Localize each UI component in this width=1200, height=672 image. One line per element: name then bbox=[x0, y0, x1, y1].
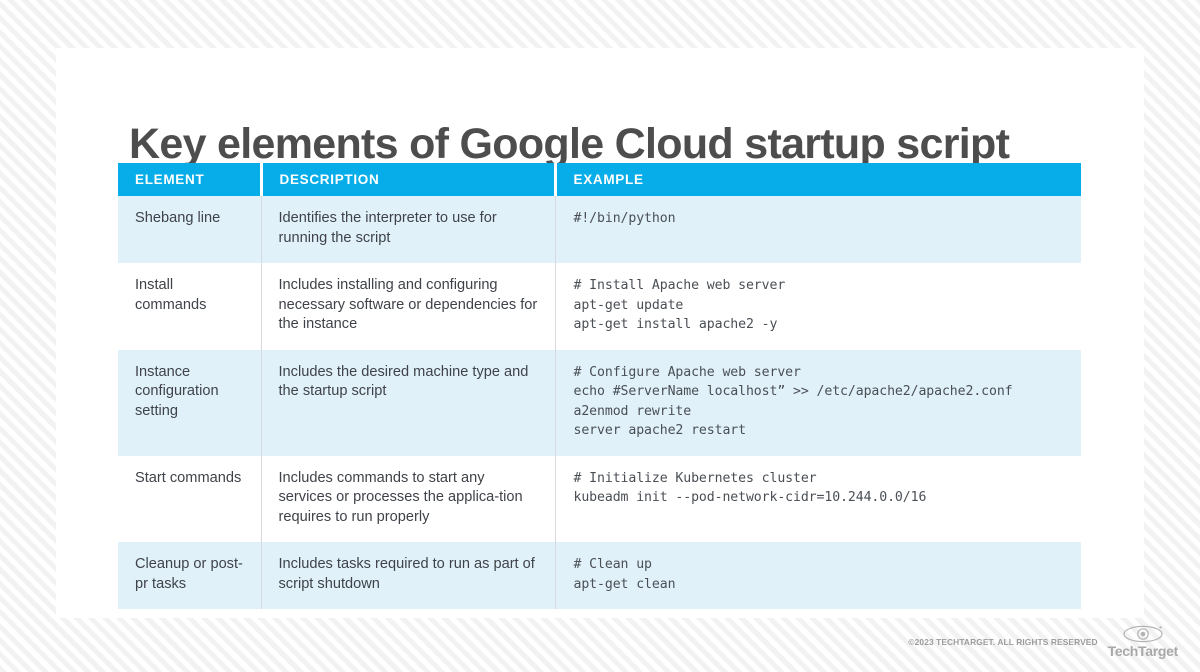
table-row: Shebang line Identifies the interpreter … bbox=[118, 196, 1081, 263]
column-header-element: ELEMENT bbox=[118, 163, 261, 196]
cell-description: Includes tasks required to run as part o… bbox=[261, 542, 555, 609]
elements-table-container: ELEMENT DESCRIPTION EXAMPLE Shebang line… bbox=[118, 163, 1081, 609]
cell-description: Identifies the interpreter to use for ru… bbox=[261, 196, 555, 263]
table-row: Cleanup or post-pr tasks Includes tasks … bbox=[118, 542, 1081, 609]
cell-description: Includes installing and configuring nece… bbox=[261, 263, 555, 350]
techtarget-logo: TechTarget bbox=[1108, 625, 1178, 658]
elements-table: ELEMENT DESCRIPTION EXAMPLE Shebang line… bbox=[118, 163, 1081, 609]
cell-element: Instance configuration setting bbox=[118, 350, 261, 456]
column-header-description: DESCRIPTION bbox=[261, 163, 555, 196]
content-card: Key elements of Google Cloud startup scr… bbox=[56, 48, 1144, 618]
cell-example: # Configure Apache web server echo #Serv… bbox=[555, 350, 1081, 456]
table-header-row: ELEMENT DESCRIPTION EXAMPLE bbox=[118, 163, 1081, 196]
table-row: Instance configuration setting Includes … bbox=[118, 350, 1081, 456]
cell-element: Install commands bbox=[118, 263, 261, 350]
cell-element: Start commands bbox=[118, 456, 261, 543]
column-header-example: EXAMPLE bbox=[555, 163, 1081, 196]
page-background: Key elements of Google Cloud startup scr… bbox=[0, 0, 1200, 672]
cell-description: Includes the desired machine type and th… bbox=[261, 350, 555, 456]
techtarget-wordmark: TechTarget bbox=[1108, 644, 1178, 658]
cell-example: # Initialize Kubernetes cluster kubeadm … bbox=[555, 456, 1081, 543]
footer: ©2023 TECHTARGET. ALL RIGHTS RESERVED Te… bbox=[908, 625, 1178, 658]
cell-example: #!/bin/python bbox=[555, 196, 1081, 263]
table-body: Shebang line Identifies the interpreter … bbox=[118, 196, 1081, 609]
table-row: Start commands Includes commands to star… bbox=[118, 456, 1081, 543]
cell-description: Includes commands to start any services … bbox=[261, 456, 555, 543]
eye-icon bbox=[1122, 625, 1164, 643]
table-header: ELEMENT DESCRIPTION EXAMPLE bbox=[118, 163, 1081, 196]
copyright-text: ©2023 TECHTARGET. ALL RIGHTS RESERVED bbox=[908, 637, 1097, 647]
page-title: Key elements of Google Cloud startup scr… bbox=[129, 120, 1109, 169]
cell-example: # Clean up apt-get clean bbox=[555, 542, 1081, 609]
cell-element: Cleanup or post-pr tasks bbox=[118, 542, 261, 609]
cell-example: # Install Apache web server apt-get upda… bbox=[555, 263, 1081, 350]
cell-element: Shebang line bbox=[118, 196, 261, 263]
table-row: Install commands Includes installing and… bbox=[118, 263, 1081, 350]
